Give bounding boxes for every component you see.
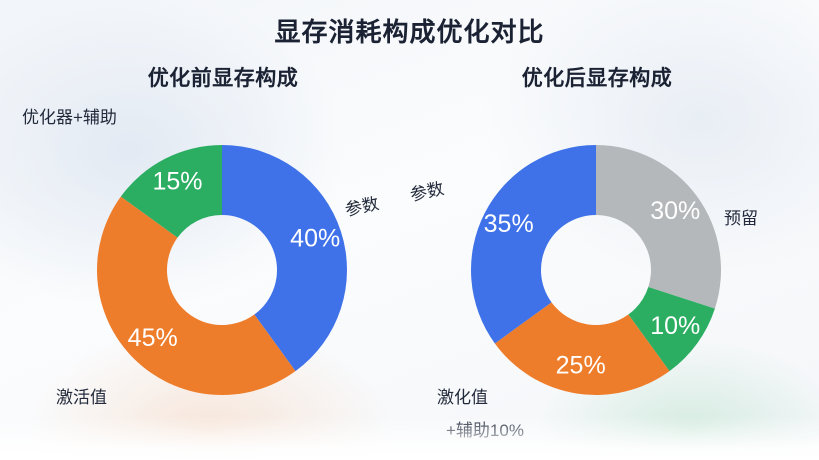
page-title: 显存消耗构成优化对比: [0, 12, 819, 49]
after-slice-2-value: 10%: [650, 312, 700, 340]
label-after-reserved: 预留: [724, 204, 758, 229]
before-slice-3-value: 15%: [152, 167, 202, 195]
chart-subtitle-after: 优化后显存构成: [432, 62, 762, 92]
chart-subtitle-before: 优化前显存构成: [58, 62, 388, 92]
after-slice-1[interactable]: [596, 145, 721, 309]
after-slice-1-value: 30%: [650, 197, 700, 225]
label-after-params: 参数: [407, 174, 445, 206]
before-slice-2-value: 45%: [128, 324, 178, 352]
donut-chart-after: 30%10%25%35%: [471, 145, 721, 395]
chart-canvas: 显存消耗构成优化对比 优化前显存构成 优化后显存构成 40%45%15% 优化器…: [0, 0, 819, 460]
donut-after-svg: 30%10%25%35%: [471, 145, 721, 395]
label-before-activation: 激活值: [56, 383, 107, 408]
donut-chart-before: 40%45%15%: [97, 145, 347, 395]
label-before-params: 参数: [342, 189, 380, 221]
label-after-activation: 激化值: [437, 383, 488, 408]
label-before-optimizer: 优化器+辅助: [22, 103, 117, 128]
after-slice-4-value: 35%: [484, 210, 534, 238]
after-slice-4[interactable]: [471, 145, 596, 343]
donut-before-svg: 40%45%15%: [97, 145, 347, 395]
before-slice-1-value: 40%: [290, 224, 340, 252]
label-after-aux: +辅助10%: [446, 416, 524, 441]
after-slice-3-value: 25%: [556, 351, 606, 379]
